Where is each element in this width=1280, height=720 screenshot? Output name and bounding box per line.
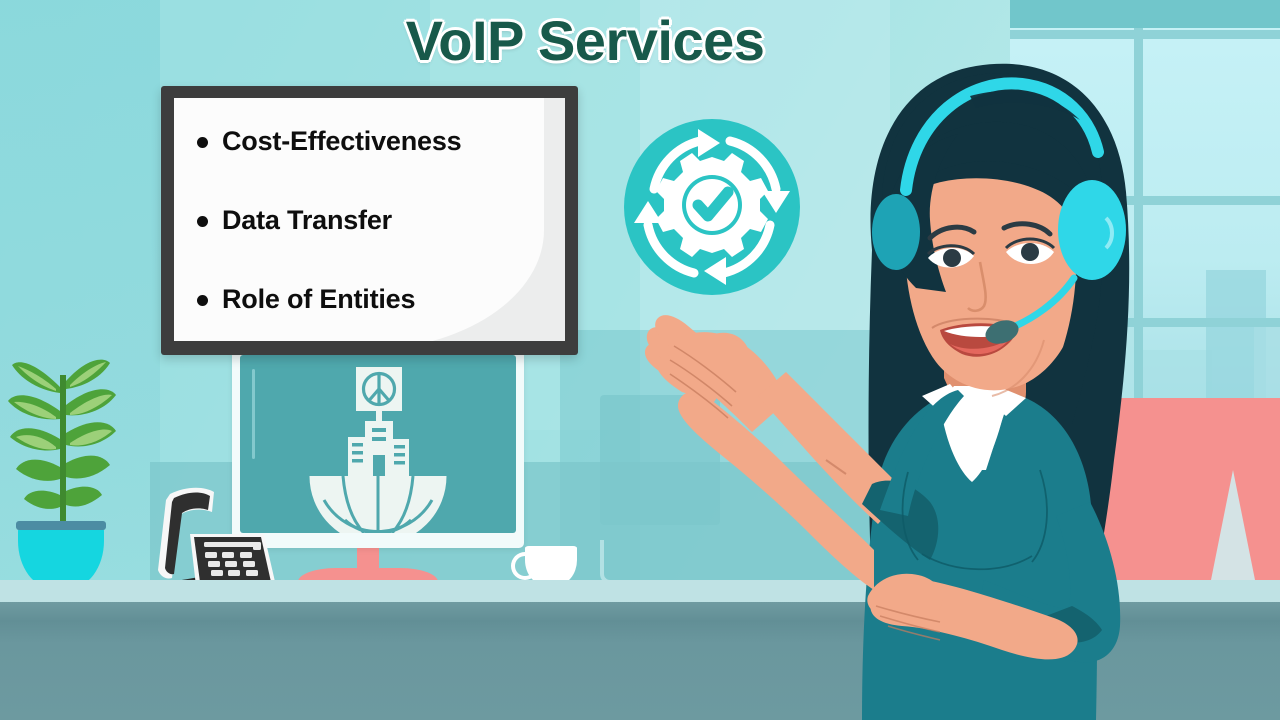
list-item: Data Transfer — [222, 207, 555, 234]
globe-city-peace-graphic — [240, 355, 516, 533]
whiteboard-surface: Cost-Effectiveness Data Transfer Role of… — [174, 98, 565, 341]
monitor-screen — [240, 355, 516, 533]
feature-bullet-list: Cost-Effectiveness Data Transfer Role of… — [174, 98, 565, 341]
bullet-label: Cost-Effectiveness — [222, 126, 461, 156]
phone-display — [204, 542, 261, 547]
potted-plant — [0, 335, 140, 590]
plant-pot-rim — [16, 521, 106, 530]
city-buildings-icon — [348, 421, 409, 476]
desk-phone — [152, 482, 277, 592]
bullet-dot-icon — [197, 216, 208, 227]
list-item: Role of Entities — [222, 286, 555, 313]
bullet-label: Role of Entities — [222, 284, 415, 314]
screen-gloss — [252, 369, 255, 459]
list-item: Cost-Effectiveness — [222, 128, 555, 155]
whiteboard: Cost-Effectiveness Data Transfer Role of… — [161, 86, 578, 355]
bullet-label: Data Transfer — [222, 205, 392, 235]
headset-earcup-right — [1058, 180, 1126, 280]
globe-grid-icon — [308, 476, 448, 533]
illustration-canvas: Cost-Effectiveness Data Transfer Role of… — [0, 0, 1280, 720]
bullet-dot-icon — [197, 137, 208, 148]
headset-earcup-left — [872, 194, 920, 270]
page-title: VoIP Services — [0, 8, 1170, 73]
process-gear-check-badge — [624, 119, 800, 295]
bullet-dot-icon — [197, 295, 208, 306]
